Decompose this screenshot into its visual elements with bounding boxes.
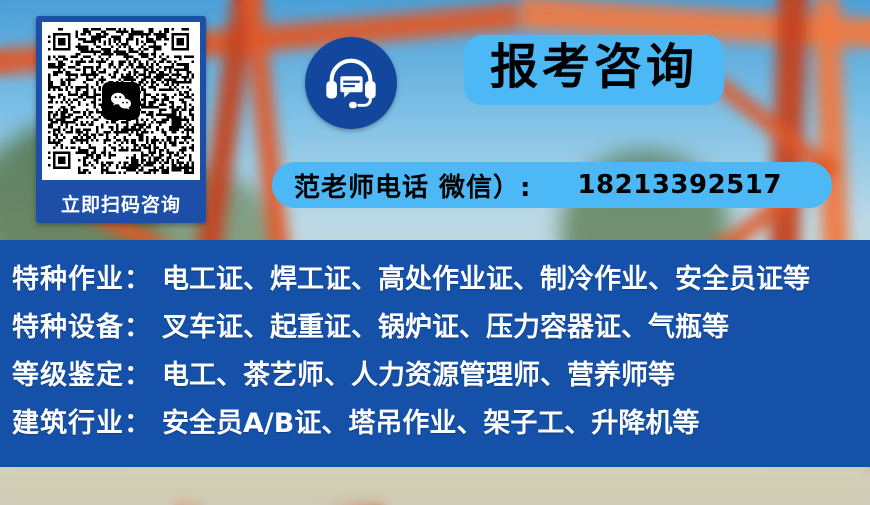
- category-value: 叉车证、起重证、锅炉证、压力容器证、气瓶等: [162, 304, 729, 352]
- wechat-icon: [102, 82, 140, 120]
- headset-support-icon: [305, 37, 397, 129]
- promo-banner: 立即扫码咨询 报考咨询 范老师电话 微信）: 18213392517 特种作业：: [0, 0, 870, 505]
- category-label: 等级鉴定：: [12, 352, 152, 400]
- contact-bar[interactable]: 范老师电话 微信）: 18213392517: [272, 162, 832, 208]
- category-row-special-operations: 特种作业： 电工证、焊工证、高处作业证、制冷作业、安全员证等: [0, 256, 870, 304]
- category-panel: 特种作业： 电工证、焊工证、高处作业证、制冷作业、安全员证等 特种设备： 叉车证…: [0, 240, 870, 467]
- category-label: 建筑行业：: [12, 400, 152, 448]
- crane-column: [241, 0, 291, 270]
- contact-label: 范老师电话 微信）:: [294, 167, 531, 204]
- contact-phone-number: 18213392517: [577, 170, 782, 200]
- category-label: 特种设备：: [12, 304, 152, 352]
- category-value: 电工证、焊工证、高处作业证、制冷作业、安全员证等: [162, 256, 810, 304]
- qr-caption: 立即扫码咨询: [36, 183, 206, 223]
- category-row-grade-appraisal: 等级鉴定： 电工、茶艺师、人力资源管理师、营养师等: [0, 352, 870, 400]
- qr-code-image: [42, 22, 200, 180]
- page-title: 报考咨询: [464, 35, 724, 105]
- category-value: 电工、茶艺师、人力资源管理师、营养师等: [162, 352, 675, 400]
- category-row-construction-industry: 建筑行业： 安全员A/B证、塔吊作业、架子工、升降机等: [0, 400, 870, 448]
- category-value: 安全员A/B证、塔吊作业、架子工、升降机等: [162, 400, 699, 448]
- qr-code-card[interactable]: 立即扫码咨询: [36, 16, 206, 223]
- category-row-special-equipment: 特种设备： 叉车证、起重证、锅炉证、压力容器证、气瓶等: [0, 304, 870, 352]
- category-label: 特种作业：: [12, 256, 152, 304]
